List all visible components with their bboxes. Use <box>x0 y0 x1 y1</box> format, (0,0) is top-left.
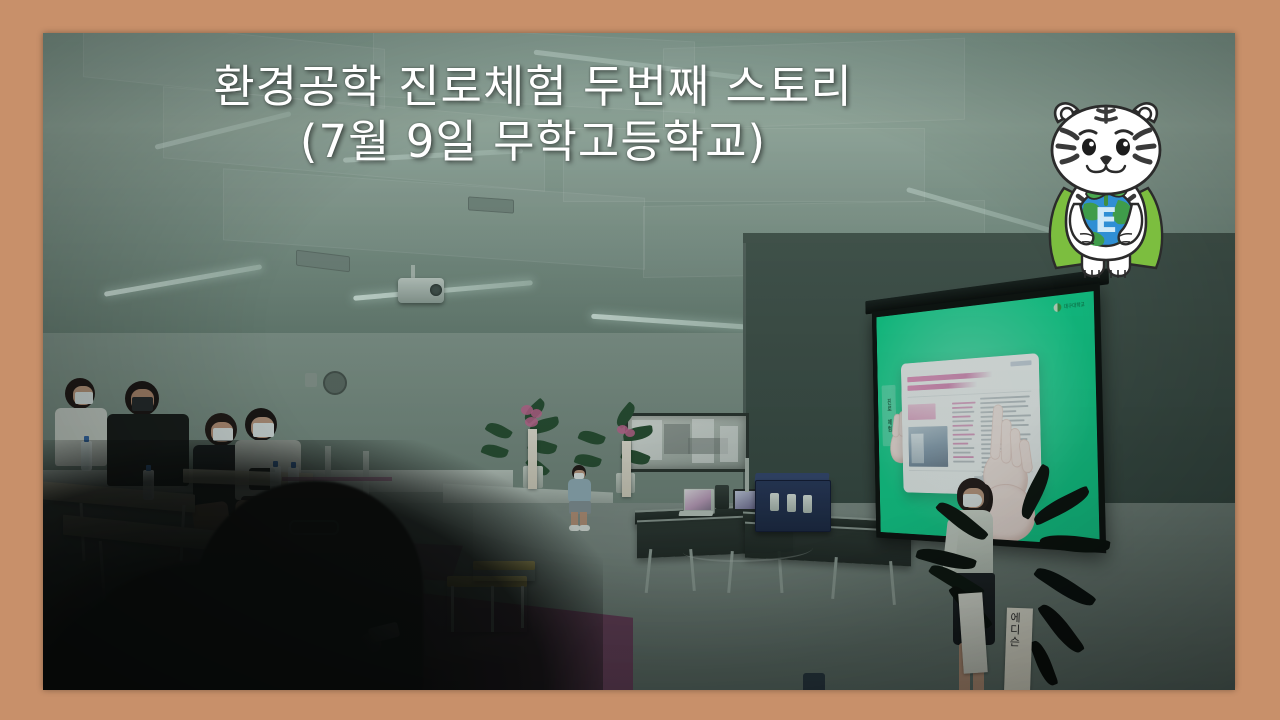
ceiling-panel <box>563 128 925 202</box>
wall-panel-box <box>803 673 825 690</box>
university-logo: 대구대학교 <box>1054 300 1086 312</box>
laptop-screen <box>685 490 711 510</box>
flower-stand-center <box>615 425 641 501</box>
article-header-logo <box>1010 360 1031 366</box>
wall-switch <box>305 373 317 387</box>
article-thumbnail <box>908 426 948 467</box>
foreground-shadow <box>43 440 603 690</box>
article-headline <box>907 371 992 382</box>
congratulatory-ribbon: 에디슨 <box>1003 608 1033 690</box>
speaker-box <box>715 485 729 509</box>
university-logo-mark <box>1054 303 1062 313</box>
slide-root: 대구대학교 진로 체험 <box>0 0 1280 720</box>
wall-fan <box>323 371 347 395</box>
ribbon-text: 에디슨 <box>1006 608 1023 649</box>
article-column-left <box>952 402 977 466</box>
eco-tiger-mascot: E <box>1022 92 1190 288</box>
lab-stand <box>745 458 749 492</box>
article-tag <box>908 403 936 420</box>
university-logo-text: 대구대학교 <box>1064 301 1085 310</box>
ceiling-projector <box>398 278 444 303</box>
svg-text:E: E <box>1094 201 1117 241</box>
dark-foliage-right <box>959 505 1159 690</box>
laptop-base <box>678 511 713 516</box>
article-subheadline <box>907 382 977 391</box>
ceiling-panel <box>663 38 965 131</box>
